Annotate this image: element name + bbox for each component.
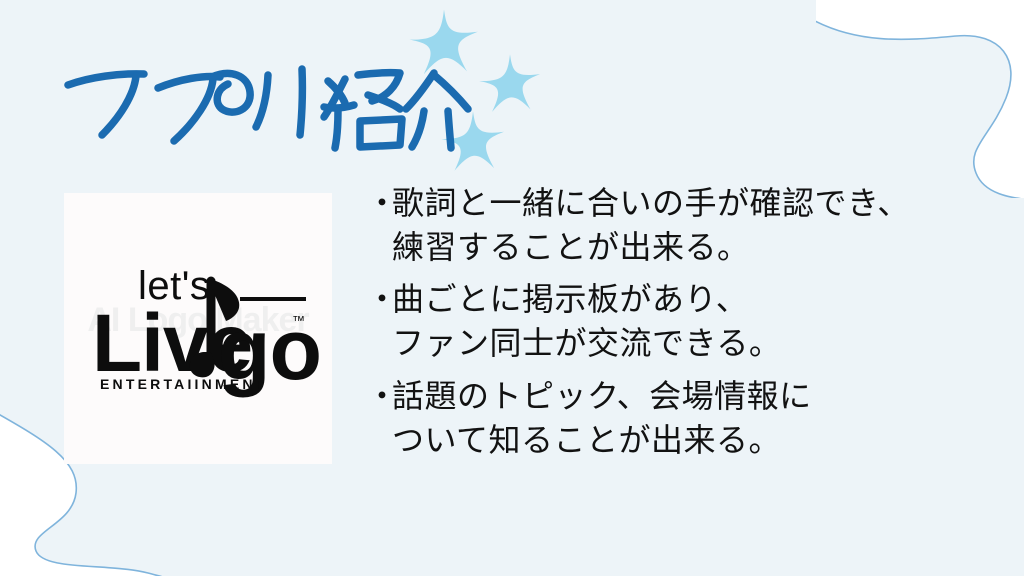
- slide-canvas: アプリ紹介 AI Logo Maker let's Live go: [0, 0, 1024, 576]
- bullet-text: 話題のトピック、会場情報に: [392, 374, 812, 418]
- bullet-marker: ・: [366, 374, 392, 418]
- bullet-wrap-line: ついて知ることが出来る。: [366, 418, 996, 462]
- bullet-text: 曲ごとに掲示板があり、: [392, 277, 748, 321]
- app-logo-card: AI Logo Maker let's Live go: [64, 193, 332, 464]
- list-item: ・ 話題のトピック、会場情報に ついて知ることが出来る。: [366, 374, 996, 462]
- bullet-text: ついて知ることが出来る。: [392, 418, 781, 462]
- bullet-first-line: ・ 曲ごとに掲示板があり、: [366, 277, 996, 321]
- bullet-wrap-line: 練習することが出来る。: [366, 225, 996, 269]
- page-title-handwriting: [62, 55, 482, 160]
- list-item: ・ 曲ごとに掲示板があり、 ファン同士が交流できる。: [366, 277, 996, 365]
- bullet-text: ファン同士が交流できる。: [392, 321, 781, 365]
- app-logo-inner: AI Logo Maker let's Live go: [64, 193, 332, 464]
- bullet-wrap-line: ファン同士が交流できる。: [366, 321, 996, 365]
- app-logo-mark: let's Live go ™ ENTERT: [64, 193, 332, 464]
- corner-blob-top-right-decoration: [816, 0, 1024, 198]
- bullet-text: 歌詞と一緒に合いの手が確認でき、: [392, 181, 910, 225]
- logo-tagline: ENTERTAIINMENT: [100, 376, 267, 392]
- feature-bullet-list: ・ 歌詞と一緒に合いの手が確認でき、 練習することが出来る。 ・ 曲ごとに掲示板…: [366, 181, 996, 470]
- bullet-marker: ・: [366, 181, 392, 225]
- page-title: アプリ紹介: [62, 55, 482, 160]
- bullet-marker: ・: [366, 277, 392, 321]
- bullet-first-line: ・ 話題のトピック、会場情報に: [366, 374, 996, 418]
- sparkle-star-icon: [478, 53, 542, 117]
- list-item: ・ 歌詞と一緒に合いの手が確認でき、 練習することが出来る。: [366, 181, 996, 269]
- sparkle-star-icon-2: [478, 53, 542, 117]
- bullet-text: 練習することが出来る。: [392, 225, 750, 269]
- lets-live-go-logo-icon: let's Live go ™ ENTERT: [64, 193, 332, 464]
- corner-blob-top-right-icon: [816, 0, 1024, 198]
- logo-trademark: ™: [292, 313, 305, 328]
- bullet-first-line: ・ 歌詞と一緒に合いの手が確認でき、: [366, 181, 996, 225]
